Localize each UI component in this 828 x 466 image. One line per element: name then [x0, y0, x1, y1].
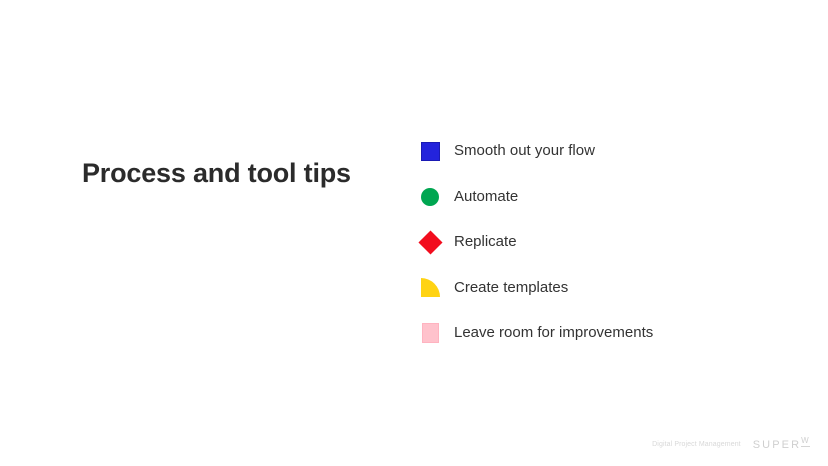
slide-canvas: Process and tool tips Smooth out your fl… [0, 0, 828, 466]
list-item[interactable]: Create templates [418, 274, 798, 302]
brand-superscript-mark: W [801, 436, 810, 447]
list-item-label: Smooth out your flow [454, 141, 595, 161]
list-item[interactable]: Replicate [418, 228, 798, 256]
diamond-icon [418, 230, 442, 254]
list-item-label: Automate [454, 187, 518, 207]
quarter-circle-icon [418, 276, 442, 300]
square-icon [418, 139, 442, 163]
footer: Digital Project Management SUPER W [652, 439, 810, 452]
list-item-label: Leave room for improvements [454, 323, 653, 343]
tips-list: Smooth out your flow Automate Replicate … [418, 137, 798, 347]
page-title: Process and tool tips [82, 156, 351, 190]
square-icon [418, 321, 442, 345]
footer-caption: Digital Project Management [652, 440, 741, 452]
brand-logo: SUPER W [753, 439, 810, 452]
list-item[interactable]: Automate [418, 183, 798, 211]
brand-wordmark: SUPER [753, 439, 801, 452]
list-item-label: Create templates [454, 278, 568, 298]
circle-icon [418, 185, 442, 209]
list-item[interactable]: Leave room for improvements [418, 319, 798, 347]
list-item-label: Replicate [454, 232, 517, 252]
list-item[interactable]: Smooth out your flow [418, 137, 798, 165]
